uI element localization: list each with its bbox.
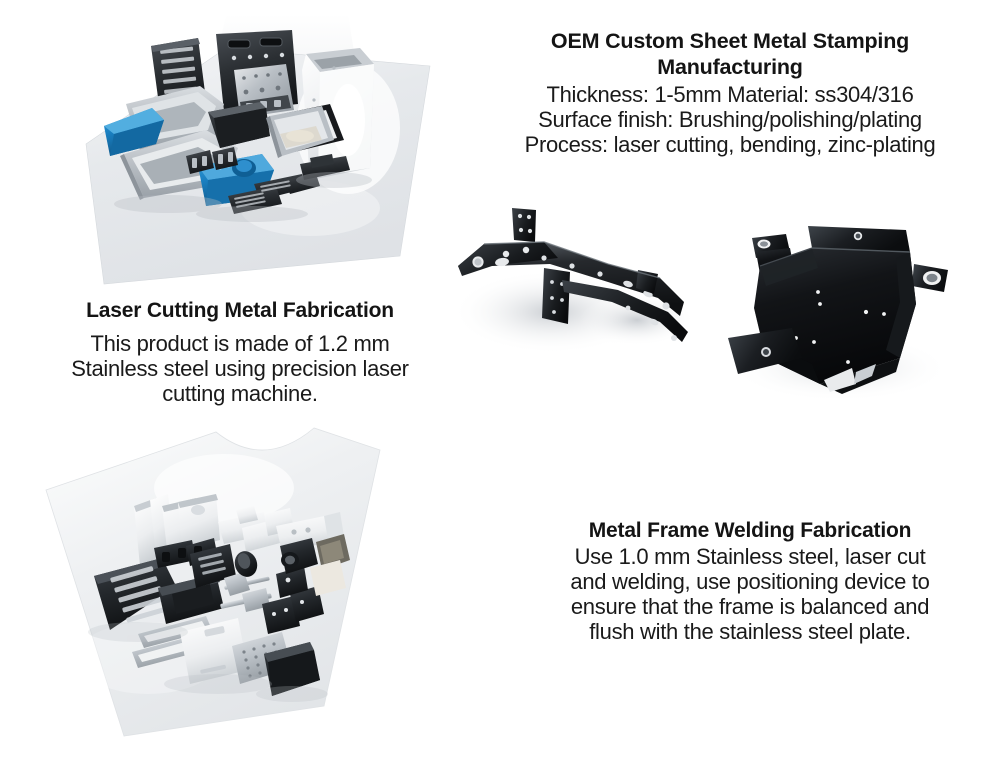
welding-line-2: and welding, use positioning device to (505, 569, 995, 594)
welding-line-4: flush with the stainless steel plate. (505, 619, 995, 644)
laser-heading: Laser Cutting Metal Fabrication (10, 298, 470, 323)
text-block-laser-cutting: Laser Cutting Metal Fabrication This pro… (10, 298, 470, 406)
stamping-line-surface-finish: Surface finish: Brushing/polishing/plati… (480, 107, 980, 132)
photo-white-parts (28, 418, 438, 744)
welding-line-1: Use 1.0 mm Stainless steel, laser cut (505, 544, 995, 569)
photo-parts-collection (48, 8, 448, 298)
text-block-welding: Metal Frame Welding Fabrication Use 1.0 … (505, 518, 995, 644)
product-collage-page: OEM Custom Sheet Metal Stamping Manufact… (0, 0, 1000, 761)
stamping-heading: OEM Custom Sheet Metal Stamping Manufact… (480, 28, 980, 80)
photo-black-bracket (432, 192, 718, 378)
photo-black-housing (700, 208, 972, 410)
stamping-line-thickness: Thickness: 1-5mm Material: ss304/316 (480, 82, 980, 107)
laser-line-3: cutting machine. (10, 381, 470, 406)
stamping-line-process: Process: laser cutting, bending, zinc-pl… (480, 132, 980, 157)
welding-body: Use 1.0 mm Stainless steel, laser cut an… (505, 544, 995, 644)
welding-line-3: ensure that the frame is balanced and (505, 594, 995, 619)
text-block-stamping: OEM Custom Sheet Metal Stamping Manufact… (480, 28, 980, 157)
stamping-body: Thickness: 1-5mm Material: ss304/316 Sur… (480, 82, 980, 157)
laser-line-2: Stainless steel using precision laser (10, 356, 470, 381)
laser-line-1: This product is made of 1.2 mm (10, 331, 470, 356)
welding-heading: Metal Frame Welding Fabrication (505, 518, 995, 543)
laser-body: This product is made of 1.2 mm Stainless… (10, 331, 470, 406)
